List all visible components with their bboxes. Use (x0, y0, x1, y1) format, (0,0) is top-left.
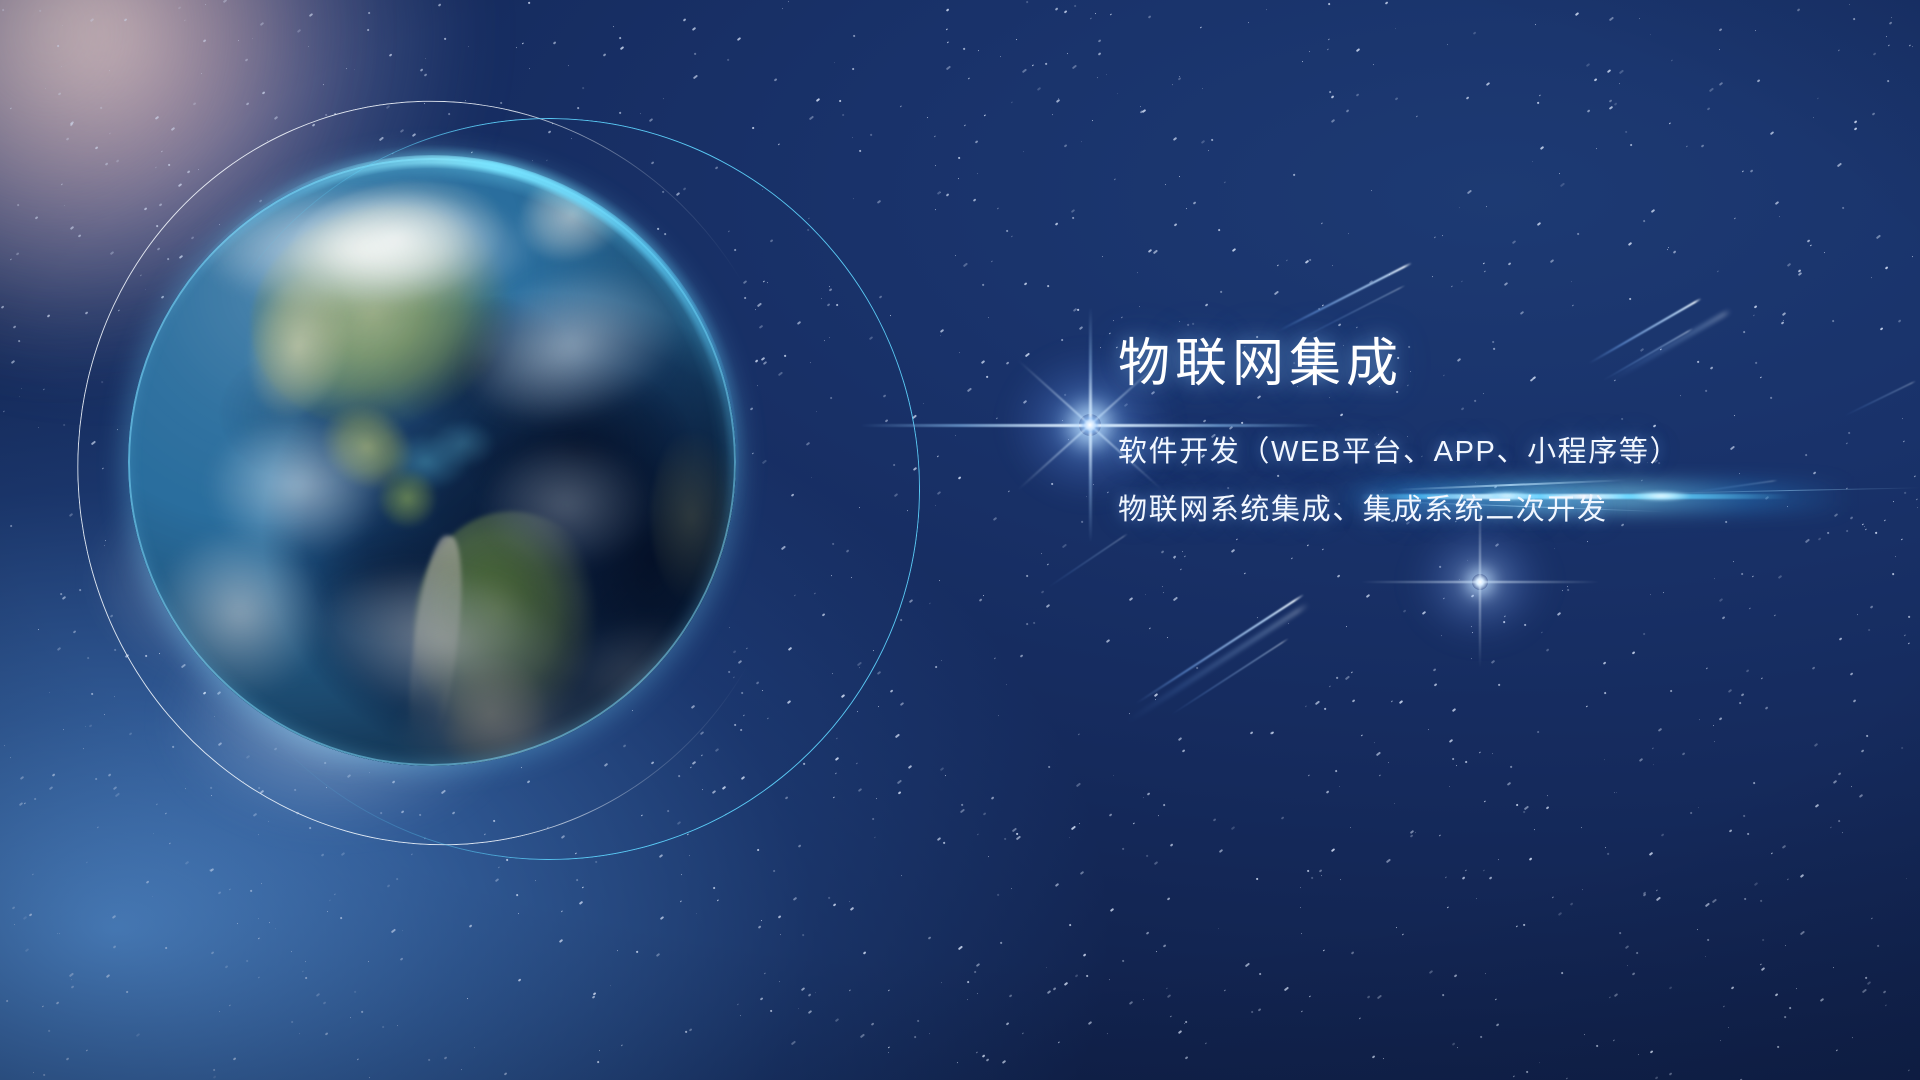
vignette-overlay (0, 0, 1920, 1080)
iot-integration-hero-banner: 物联网集成 软件开发（WEB平台、APP、小程序等） 物联网系统集成、集成系统二… (0, 0, 1920, 1080)
subtitle-line-1: 软件开发（WEB平台、APP、小程序等） (1118, 438, 1838, 467)
subtitle-line-2: 物联网系统集成、集成系统二次开发 (1118, 496, 1838, 525)
page-title: 物联网集成 (1118, 338, 1838, 390)
hero-copy-block: 物联网集成 软件开发（WEB平台、APP、小程序等） 物联网系统集成、集成系统二… (1118, 338, 1838, 525)
